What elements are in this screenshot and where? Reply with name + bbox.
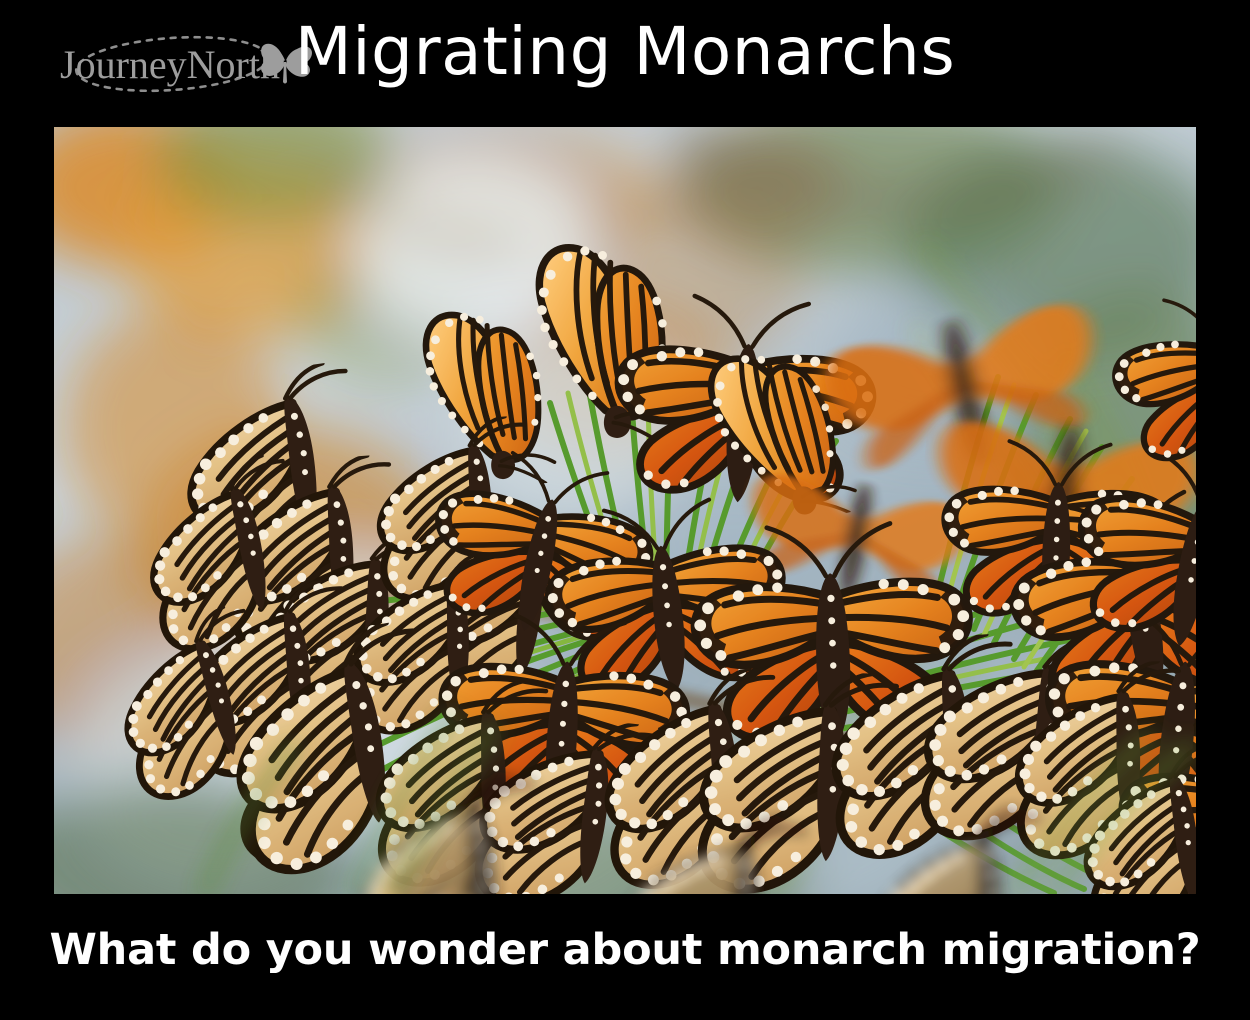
monarch-photo — [54, 127, 1196, 894]
slide-header: JourneyNorth Migrating Monarchs — [0, 0, 1250, 127]
slide-root: JourneyNorth Migrating Monarchs — [0, 0, 1250, 1020]
page-title: Migrating Monarchs — [0, 12, 1250, 92]
caption-question: What do you wonder about monarch migrati… — [0, 920, 1250, 980]
